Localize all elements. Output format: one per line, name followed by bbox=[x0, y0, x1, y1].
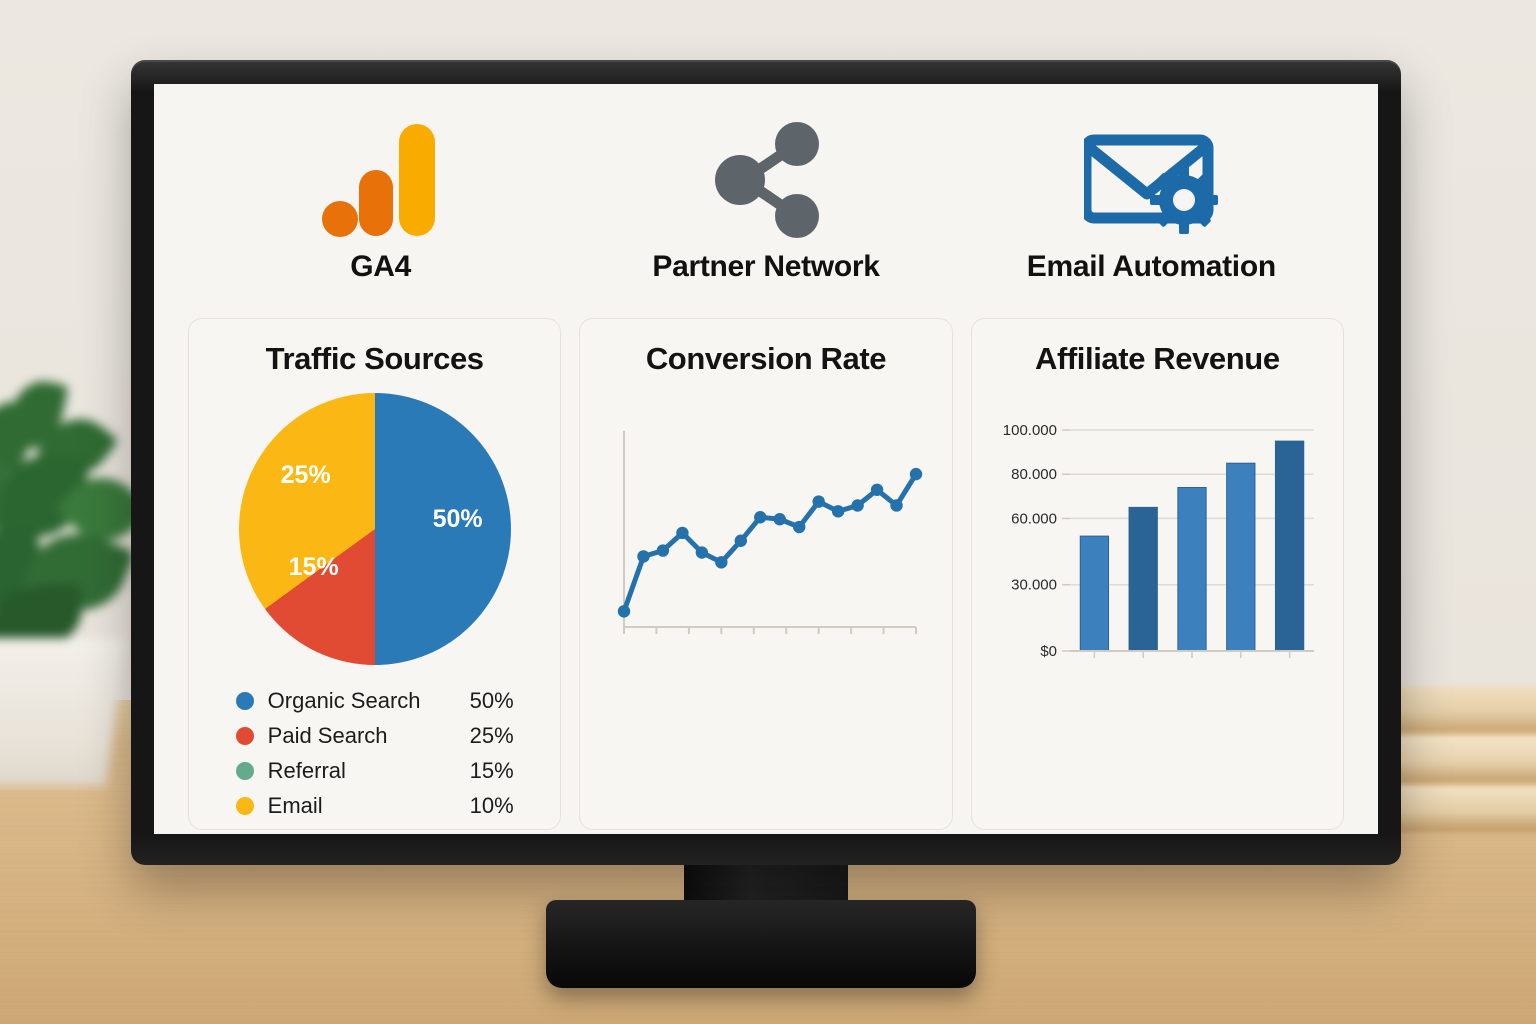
svg-text:60.000: 60.000 bbox=[1011, 510, 1057, 527]
integration-partner-network[interactable]: Partner Network bbox=[573, 118, 958, 318]
legend-item[interactable]: Email 10% bbox=[236, 788, 514, 823]
integrations-row: GA4 Partner Network bbox=[188, 118, 1344, 318]
book-item bbox=[1392, 786, 1536, 832]
svg-text:80.000: 80.000 bbox=[1011, 466, 1057, 483]
svg-text:30.000: 30.000 bbox=[1011, 577, 1057, 594]
legend-item[interactable]: Referral 15% bbox=[236, 753, 514, 788]
integration-label: Partner Network bbox=[652, 250, 879, 284]
integration-email-automation[interactable]: Email Automation bbox=[959, 118, 1344, 318]
integration-label: GA4 bbox=[350, 250, 411, 284]
card-traffic-sources: Traffic Sources 50% 15% 25% Organic Sear… bbox=[188, 318, 561, 830]
computer-monitor: GA4 Partner Network bbox=[131, 60, 1401, 865]
legend-item[interactable]: Paid Search 25% bbox=[236, 718, 514, 753]
legend-swatch bbox=[236, 762, 254, 780]
analytics-dashboard: GA4 Partner Network bbox=[154, 84, 1378, 834]
integration-ga4[interactable]: GA4 bbox=[188, 118, 573, 318]
book-item bbox=[1392, 736, 1536, 782]
svg-text:100.000: 100.000 bbox=[1003, 422, 1057, 439]
legend-swatch bbox=[236, 727, 254, 745]
legend-label: Referral bbox=[268, 758, 470, 784]
legend-value: 50% bbox=[470, 688, 514, 714]
pie-chart: 50% 15% 25% bbox=[239, 393, 511, 665]
card-title: Affiliate Revenue bbox=[1035, 341, 1280, 377]
pie-slice-label: 25% bbox=[281, 461, 331, 490]
book-item bbox=[1392, 686, 1536, 732]
line-chart bbox=[606, 423, 926, 653]
legend-swatch bbox=[236, 797, 254, 815]
book-stack bbox=[1392, 686, 1536, 836]
card-title: Conversion Rate bbox=[646, 341, 886, 377]
pie-slice-label: 50% bbox=[433, 505, 483, 534]
monitor-stand-base bbox=[546, 900, 976, 988]
pie-slice-label: 15% bbox=[289, 553, 339, 582]
ga4-analytics-icon bbox=[321, 118, 441, 242]
legend-value: 10% bbox=[470, 793, 514, 819]
legend-value: 15% bbox=[470, 758, 514, 784]
card-conversion-rate: Conversion Rate bbox=[579, 318, 952, 830]
legend-item[interactable]: Organic Search 50% bbox=[236, 683, 514, 718]
pie-legend: Organic Search 50% Paid Search 25% Refer… bbox=[236, 683, 514, 823]
integration-label: Email Automation bbox=[1027, 250, 1276, 284]
bar-chart: 100.00080.00060.00030.000$0 bbox=[992, 411, 1322, 681]
legend-label: Organic Search bbox=[268, 688, 470, 714]
desk-scene: GA4 Partner Network bbox=[0, 0, 1536, 1024]
svg-text:$0: $0 bbox=[1041, 643, 1058, 660]
email-gear-icon bbox=[1084, 118, 1218, 242]
plant-pot bbox=[0, 638, 126, 786]
legend-label: Paid Search bbox=[268, 723, 470, 749]
card-affiliate-revenue: Affiliate Revenue 100.00080.00060.00030.… bbox=[971, 318, 1344, 830]
share-network-icon bbox=[704, 118, 828, 242]
dashboard-cards: Traffic Sources 50% 15% 25% Organic Sear… bbox=[188, 318, 1344, 830]
monitor-screen: GA4 Partner Network bbox=[154, 84, 1378, 834]
card-title: Traffic Sources bbox=[266, 341, 484, 377]
legend-value: 25% bbox=[470, 723, 514, 749]
legend-label: Email bbox=[268, 793, 470, 819]
legend-swatch bbox=[236, 692, 254, 710]
